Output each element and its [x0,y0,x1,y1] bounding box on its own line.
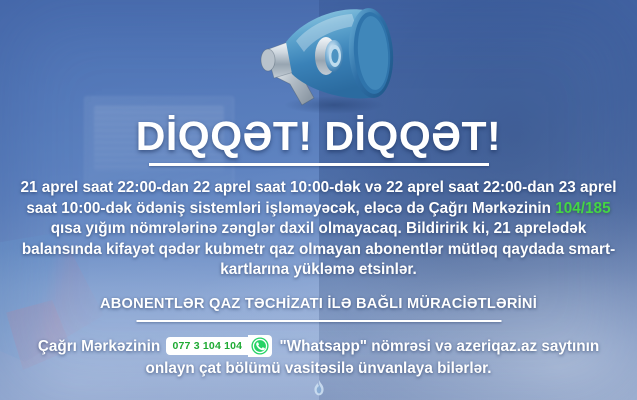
short-numbers-highlight: 104/185 [555,200,610,217]
announcement-body: 21 aprel saat 22:00-dan 22 aprel saat 10… [16,178,621,281]
contact-prefix: Çağrı Mərkəzinin [38,338,165,355]
flame-logo-icon [310,379,328,399]
subheading-underline [136,320,501,322]
body-text-part-2: qısa yığım nömrələrinə zənglər daxil olm… [22,220,615,278]
whatsapp-button[interactable] [248,335,272,357]
subheading: ABONENTLƏR QAZ TƏCHİZATI İLƏ BAĞLI MÜRAC… [0,296,637,312]
contact-instructions: Çağrı Mərkəzinin 077 3 104 104 "Whatsapp… [16,336,621,379]
phone-number-badge[interactable]: 077 3 104 104 [166,337,248,356]
announcement-banner: DİQQƏT! DİQQƏT! 21 aprel saat 22:00-dan … [0,0,637,400]
page-title: DİQQƏT! DİQQƏT! [0,116,637,157]
body-text-part-1: 21 aprel saat 22:00-dan 22 aprel saat 10… [20,179,616,217]
title-underline [149,163,489,166]
whatsapp-icon [251,337,269,355]
